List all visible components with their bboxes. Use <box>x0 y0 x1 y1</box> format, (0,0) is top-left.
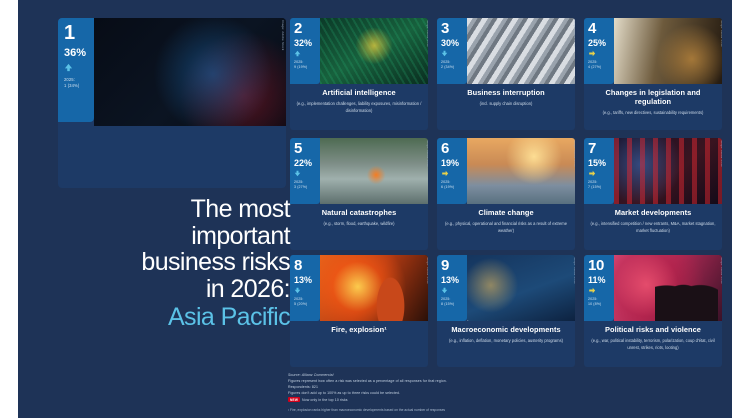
rank-number: 2 <box>294 21 320 37</box>
fire-explosion-photo: Image: Adobe Stock <box>320 255 428 321</box>
risk-title: Macroeconomic developments <box>442 325 570 334</box>
risk-card-9[interactable]: 9 13% 2025: 8 (15%) Image: Adobe Stock M… <box>437 255 575 367</box>
rank-percentage: 13% <box>294 275 320 286</box>
risk-caption-3: Business interruption (incl. supply chai… <box>437 88 575 108</box>
macroeconomic-developments-photo: Image: Adobe Stock <box>467 255 575 321</box>
trend-up-icon <box>294 50 320 58</box>
risk-caption-4: Changes in legislation and regulation (e… <box>584 88 722 117</box>
risk-description: (e.g., inflation, deflation, monetary po… <box>442 338 570 345</box>
prior-year-value: 1 (34%) <box>64 83 94 89</box>
rank-number: 5 <box>294 141 320 157</box>
trend-down-icon <box>441 50 467 58</box>
artificial-intelligence-photo: Image: Adobe Stock <box>320 18 428 84</box>
photo-credit: Image: Adobe Stock <box>426 20 428 47</box>
risk-title: Natural catastrophes <box>295 208 423 217</box>
legislation-regulation-photo: Image: Adobe Stock <box>614 18 722 84</box>
prior-year-value: 3 (27%) <box>294 185 320 190</box>
risk-description: (e.g., tariffs, new directives, sustaina… <box>589 110 717 117</box>
photo-credit: Image: Adobe Stock <box>720 140 722 167</box>
risk-card-7[interactable]: 7 15% 2025: 7 (15%) Image: Adobe Stock M… <box>584 138 722 250</box>
prior-year-value: 9 (19%) <box>294 65 320 70</box>
risk-description: (e.g., implementation challenges, liabil… <box>295 101 423 115</box>
rank-badge-6: 6 19% 2025: 6 (19%) <box>437 138 467 204</box>
page-title: The most important business risks in 202… <box>52 196 290 331</box>
infographic-canvas: 1 36% 2025: 1 (34%) Image: Adobe Stock C… <box>18 0 732 418</box>
rank-percentage: 32% <box>294 38 320 49</box>
footnote-1: ¹ Fire, explosion ranks higher than macr… <box>288 408 588 413</box>
rank-percentage: 11% <box>588 275 614 286</box>
prior-year-value: 7 (15%) <box>588 185 614 190</box>
trend-flat-icon <box>588 287 614 295</box>
risk-card-2[interactable]: 2 32% 2025: 9 (19%) Image: Adobe Stock A… <box>290 18 428 130</box>
risk-description: (incl. supply chain disruption) <box>442 101 570 108</box>
rank-percentage: 25% <box>588 38 614 49</box>
rank-badge-5: 5 22% 2025: 3 (27%) <box>290 138 320 204</box>
new-badge: NEW <box>288 397 300 402</box>
risk-card-4[interactable]: 4 25% 2025: 4 (27%) Image: Adobe Stock C… <box>584 18 722 130</box>
trend-flat-icon <box>588 50 614 58</box>
rank-percentage: 15% <box>588 158 614 169</box>
risk-title: Business interruption <box>442 88 570 97</box>
photo-credit: Image: Adobe Stock <box>720 257 722 284</box>
new-risk-note: NEW Now only in the top 10 risks <box>288 397 588 403</box>
trend-down-icon <box>294 287 320 295</box>
rank-percentage: 36% <box>64 47 94 60</box>
photo-credit: Image: Adobe Stock <box>573 20 575 47</box>
headline-line-3: business risks <box>52 249 290 276</box>
rank-number: 9 <box>441 258 467 274</box>
trend-flat-icon <box>588 170 614 178</box>
photo-credit: Image: Adobe Stock <box>426 140 428 167</box>
rank-number: 1 <box>64 23 94 44</box>
new-risk-text: Now only in the top 10 risks <box>302 397 348 403</box>
rank-number: 6 <box>441 141 467 157</box>
trend-flat-icon <box>441 170 467 178</box>
prior-year-value: 10 (8%) <box>588 302 614 307</box>
political-risks-photo: Image: Adobe Stock <box>614 255 722 321</box>
risk-caption-2: Artificial intelligence (e.g., implement… <box>290 88 428 115</box>
photo-credit: Image: Adobe Stock <box>281 20 285 50</box>
trend-down-icon <box>441 287 467 295</box>
rank-badge-3: 3 30% 2025: 2 (34%) <box>437 18 467 84</box>
headline-line-2: important <box>52 223 290 250</box>
risk-caption-10: Political risks and violence (e.g., war,… <box>584 325 722 352</box>
risk-caption-6: Climate change (e.g., physical, operatio… <box>437 208 575 235</box>
rank-badge-4: 4 25% 2025: 4 (27%) <box>584 18 614 84</box>
rank-badge-8: 8 13% 2025: 5 (20%) <box>290 255 320 321</box>
prior-year-value: 4 (27%) <box>588 65 614 70</box>
rank-badge-1: 1 36% 2025: 1 (34%) <box>58 18 94 122</box>
risk-caption-9: Macroeconomic developments (e.g., inflat… <box>437 325 575 345</box>
risk-caption-8: Fire, explosion¹ <box>290 325 428 338</box>
rank-number: 3 <box>441 21 467 37</box>
photo-credit: Image: Adobe Stock <box>573 257 575 284</box>
risk-description: (e.g., intensified competition / new ent… <box>589 221 717 235</box>
risk-title: Fire, explosion¹ <box>295 325 423 334</box>
prior-year-value: 2 (34%) <box>441 65 467 70</box>
headline-line-1: The most <box>52 196 290 223</box>
trend-down-icon <box>294 170 320 178</box>
trend-up-icon <box>64 63 94 73</box>
risk-title: Climate change <box>442 208 570 217</box>
risk-description: (e.g., war, political instability, terro… <box>589 338 717 352</box>
rank-number: 7 <box>588 141 614 157</box>
risk-description: (e.g., physical, operational and financi… <box>442 221 570 235</box>
rank-percentage: 22% <box>294 158 320 169</box>
footnotes: Source: Allianz Commercial Figures repre… <box>288 372 588 413</box>
risk-title: Political risks and violence <box>589 325 717 334</box>
risk-title: Changes in legislation and regulation <box>589 88 717 106</box>
photo-credit: Image: Adobe Stock <box>426 257 428 284</box>
risk-caption-5: Natural catastrophes (e.g., storm, flood… <box>290 208 428 228</box>
rank-percentage: 13% <box>441 275 467 286</box>
headline-line-4: in 2026: <box>52 276 290 303</box>
rank-badge-7: 7 15% 2025: 7 (15%) <box>584 138 614 204</box>
photo-credit: Image: Adobe Stock <box>720 20 722 47</box>
risk-card-1[interactable]: 1 36% 2025: 1 (34%) Image: Adobe Stock C… <box>58 18 286 188</box>
rank-badge-2: 2 32% 2025: 9 (19%) <box>290 18 320 84</box>
headline-region: Asia Pacific <box>52 303 290 331</box>
risk-title: Market developments <box>589 208 717 217</box>
business-interruption-photo: Image: Adobe Stock <box>467 18 575 84</box>
risk-caption-7: Market developments (e.g., intensified c… <box>584 208 722 235</box>
risk-card-10[interactable]: 10 11% 2025: 10 (8%) Image: Adobe Stock … <box>584 255 722 367</box>
risk-card-5[interactable]: 5 22% 2025: 3 (27%) Image: Adobe Stock N… <box>290 138 428 250</box>
risk-card-6[interactable]: 6 19% 2025: 6 (19%) Image: Adobe Stock C… <box>437 138 575 250</box>
rank-number: 8 <box>294 258 320 274</box>
cyber-incidents-photo: Image: Adobe Stock <box>94 18 286 126</box>
natural-catastrophes-photo: Image: Adobe Stock <box>320 138 428 204</box>
prior-year-value: 8 (15%) <box>441 302 467 307</box>
rank-badge-9: 9 13% 2025: 8 (15%) <box>437 255 467 321</box>
prior-year-value: 5 (20%) <box>294 302 320 307</box>
prior-year-value: 6 (19%) <box>441 185 467 190</box>
rank-badge-10: 10 11% 2025: 10 (8%) <box>584 255 614 321</box>
risk-description: (e.g., storm, flood, earthquake, wildfir… <box>295 221 423 228</box>
rank-percentage: 19% <box>441 158 467 169</box>
risk-card-8[interactable]: 8 13% 2025: 5 (20%) Image: Adobe Stock F… <box>290 255 428 367</box>
risk-title: Artificial intelligence <box>295 88 423 97</box>
photo-credit: Image: Adobe Stock <box>573 140 575 167</box>
climate-change-photo: Image: Adobe Stock <box>467 138 575 204</box>
rank-number: 4 <box>588 21 614 37</box>
market-developments-photo: Image: Adobe Stock <box>614 138 722 204</box>
rank-number: 10 <box>588 258 614 274</box>
risk-card-3[interactable]: 3 30% 2025: 2 (34%) Image: Adobe Stock B… <box>437 18 575 130</box>
rank-percentage: 30% <box>441 38 467 49</box>
